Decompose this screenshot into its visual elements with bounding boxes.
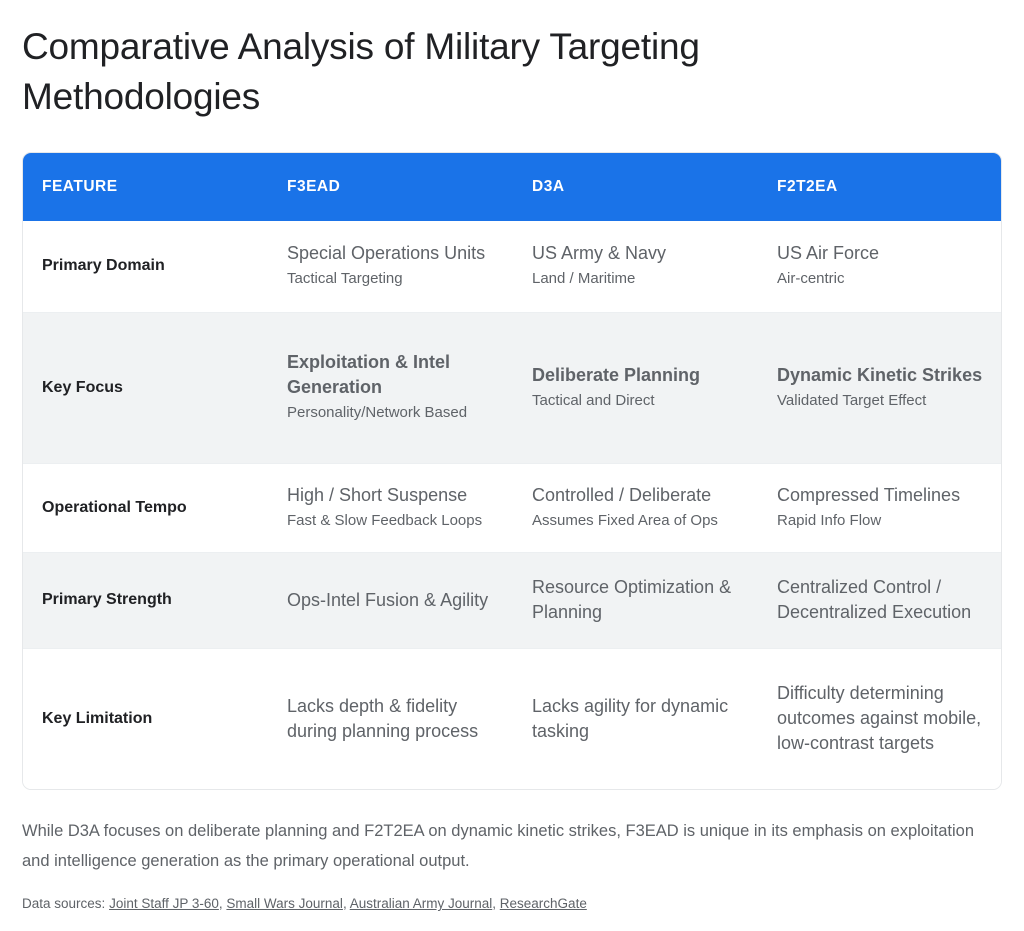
cell-d3a: Lacks agility for dynamic tasking — [513, 648, 758, 789]
table-row: Key LimitationLacks depth & fidelity dur… — [23, 648, 1001, 789]
cell-sub-text: Tactical Targeting — [287, 267, 495, 291]
cell-main-text: Lacks depth & fidelity during planning p… — [287, 694, 495, 744]
table-row: Key FocusExploitation & Intel Generation… — [23, 312, 1001, 463]
column-header-f2t2ea[interactable]: F2T2EA — [758, 153, 1001, 221]
cell-main-text: Resource Optimization & Planning — [532, 575, 740, 625]
feature-label: Operational Tempo — [42, 497, 250, 519]
cell-f2t2ea: Dynamic Kinetic StrikesValidated Target … — [758, 312, 1001, 463]
cell-feature: Primary Domain — [23, 221, 268, 312]
data-source-link[interactable]: Australian Army Journal — [350, 896, 493, 911]
table-header-row: FEATURE F3EAD D3A F2T2EA — [23, 153, 1001, 221]
cell-f3ead: Lacks depth & fidelity during planning p… — [268, 648, 513, 789]
cell-sub-text: Personality/Network Based — [287, 401, 495, 425]
cell-main-text: US Army & Navy — [532, 241, 740, 266]
cell-d3a: Deliberate PlanningTactical and Direct — [513, 312, 758, 463]
cell-main-text: Special Operations Units — [287, 241, 495, 266]
cell-sub-text: Fast & Slow Feedback Loops — [287, 509, 495, 533]
cell-main-text: Dynamic Kinetic Strikes — [777, 363, 983, 388]
cell-feature: Key Focus — [23, 312, 268, 463]
cell-f3ead: Ops-Intel Fusion & Agility — [268, 552, 513, 648]
data-source-link[interactable]: ResearchGate — [500, 896, 587, 911]
data-source-link[interactable]: Joint Staff JP 3-60 — [109, 896, 219, 911]
cell-d3a: Controlled / DeliberateAssumes Fixed Are… — [513, 463, 758, 552]
comparison-table: FEATURE F3EAD D3A F2T2EA Primary DomainS… — [23, 153, 1001, 789]
data-sources: Data sources: Joint Staff JP 3-60, Small… — [22, 894, 1002, 914]
cell-feature: Operational Tempo — [23, 463, 268, 552]
feature-label: Key Focus — [42, 377, 250, 399]
table-body: Primary DomainSpecial Operations UnitsTa… — [23, 221, 1001, 789]
cell-main-text: Lacks agility for dynamic tasking — [532, 694, 740, 744]
cell-f2t2ea: Compressed TimelinesRapid Info Flow — [758, 463, 1001, 552]
table-header: FEATURE F3EAD D3A F2T2EA — [23, 153, 1001, 221]
column-header-f3ead[interactable]: F3EAD — [268, 153, 513, 221]
cell-f2t2ea: Centralized Control / Decentralized Exec… — [758, 552, 1001, 648]
cell-main-text: US Air Force — [777, 241, 983, 266]
cell-f3ead: Special Operations UnitsTactical Targeti… — [268, 221, 513, 312]
summary-text: While D3A focuses on deliberate planning… — [22, 816, 984, 876]
cell-sub-text: Air-centric — [777, 267, 983, 291]
footer: While D3A focuses on deliberate planning… — [22, 816, 1002, 914]
data-source-link[interactable]: Small Wars Journal — [226, 896, 343, 911]
column-header-feature[interactable]: FEATURE — [23, 153, 268, 221]
feature-label: Primary Strength — [42, 589, 250, 611]
cell-f3ead: High / Short SuspenseFast & Slow Feedbac… — [268, 463, 513, 552]
cell-main-text: Deliberate Planning — [532, 363, 740, 388]
data-sources-label: Data sources: — [22, 896, 105, 911]
cell-d3a: US Army & NavyLand / Maritime — [513, 221, 758, 312]
cell-d3a: Resource Optimization & Planning — [513, 552, 758, 648]
comparison-table-card: FEATURE F3EAD D3A F2T2EA Primary DomainS… — [22, 152, 1002, 790]
table-row: Primary DomainSpecial Operations UnitsTa… — [23, 221, 1001, 312]
page-title: Comparative Analysis of Military Targeti… — [22, 22, 802, 122]
cell-sub-text: Rapid Info Flow — [777, 509, 983, 533]
feature-label: Primary Domain — [42, 255, 250, 277]
cell-main-text: Exploitation & Intel Generation — [287, 350, 495, 400]
cell-main-text: High / Short Suspense — [287, 483, 495, 508]
table-row: Primary StrengthOps-Intel Fusion & Agili… — [23, 552, 1001, 648]
data-sources-links: Joint Staff JP 3-60, Small Wars Journal,… — [109, 896, 587, 911]
table-row: Operational TempoHigh / Short SuspenseFa… — [23, 463, 1001, 552]
cell-main-text: Ops-Intel Fusion & Agility — [287, 588, 495, 613]
cell-feature: Key Limitation — [23, 648, 268, 789]
cell-main-text: Compressed Timelines — [777, 483, 983, 508]
column-header-d3a[interactable]: D3A — [513, 153, 758, 221]
cell-main-text: Difficulty determining outcomes against … — [777, 681, 983, 756]
cell-sub-text: Validated Target Effect — [777, 389, 983, 413]
cell-sub-text: Tactical and Direct — [532, 389, 740, 413]
cell-sub-text: Assumes Fixed Area of Ops — [532, 509, 740, 533]
cell-f3ead: Exploitation & Intel GenerationPersonali… — [268, 312, 513, 463]
page-root: Comparative Analysis of Military Targeti… — [0, 0, 1024, 931]
cell-feature: Primary Strength — [23, 552, 268, 648]
cell-sub-text: Land / Maritime — [532, 267, 740, 291]
cell-main-text: Centralized Control / Decentralized Exec… — [777, 575, 983, 625]
feature-label: Key Limitation — [42, 708, 250, 730]
cell-f2t2ea: US Air ForceAir-centric — [758, 221, 1001, 312]
cell-main-text: Controlled / Deliberate — [532, 483, 740, 508]
cell-f2t2ea: Difficulty determining outcomes against … — [758, 648, 1001, 789]
